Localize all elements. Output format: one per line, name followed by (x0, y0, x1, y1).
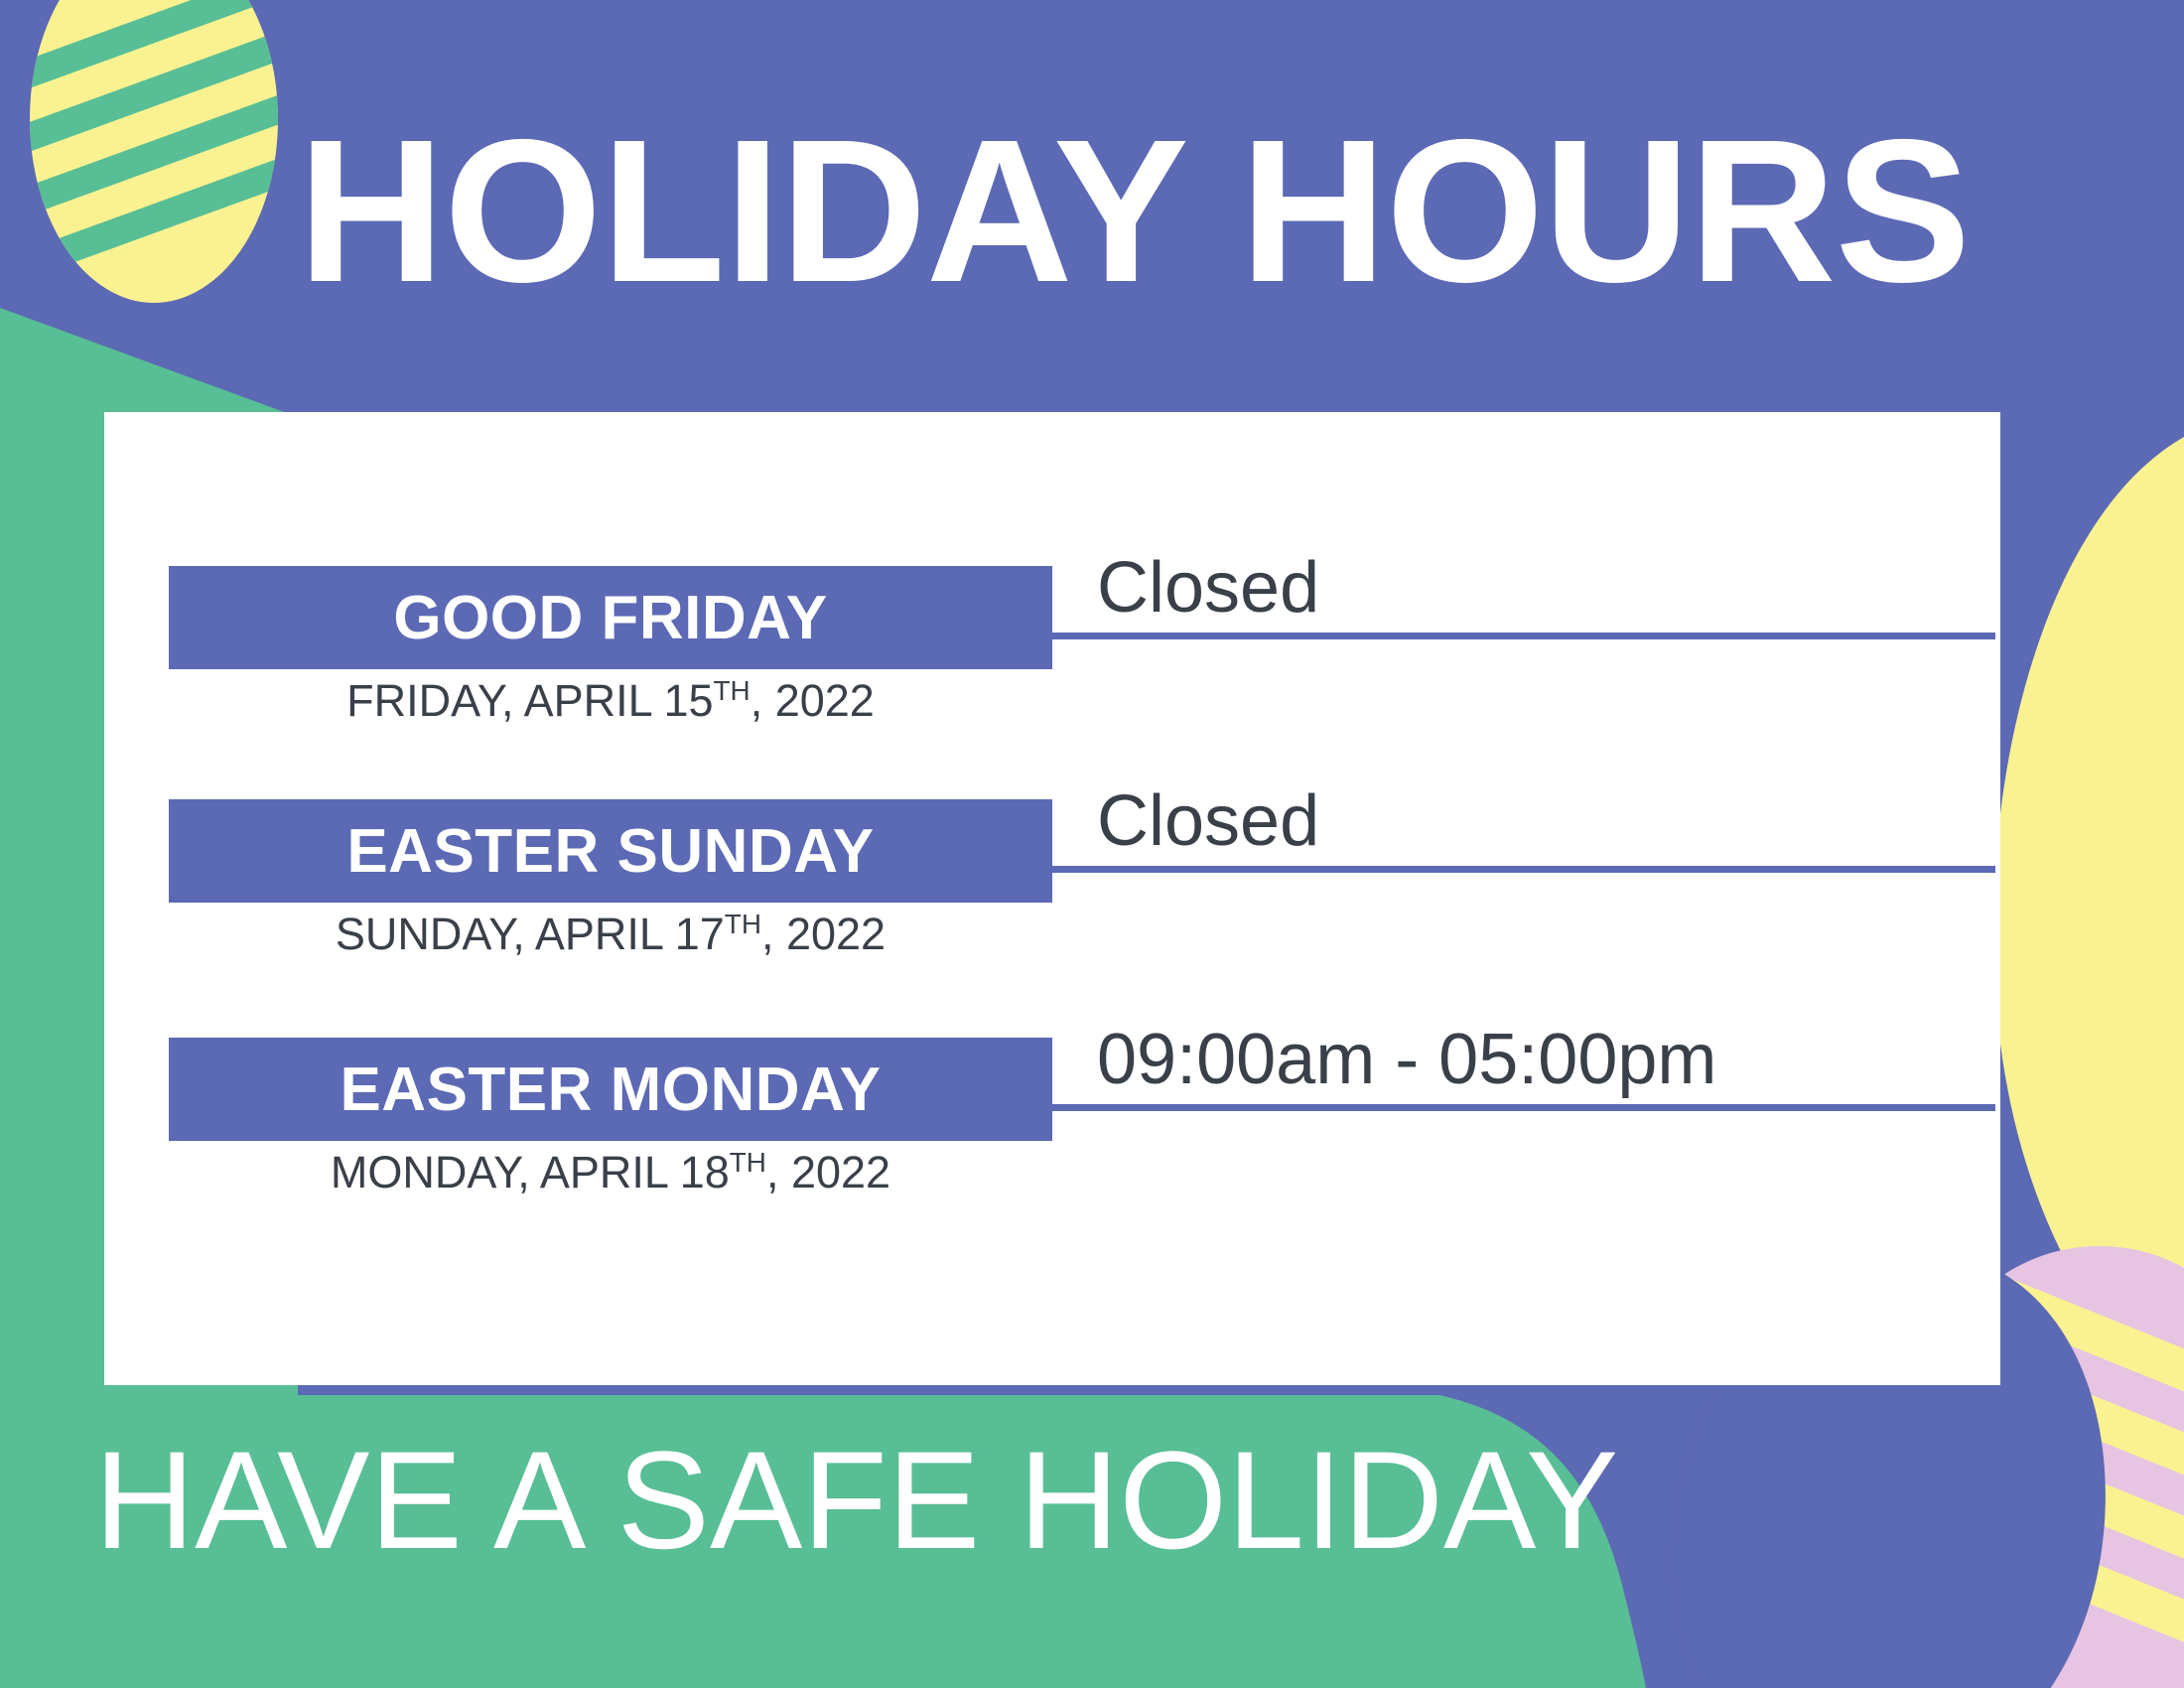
holiday-name-label: EASTER MONDAY (340, 1055, 881, 1125)
holiday-date-suffix: , 2022 (761, 909, 886, 959)
hours-value-group: Closed (1052, 546, 2040, 639)
holiday-name-band: EASTER MONDAY (169, 1038, 1052, 1141)
hours-underline (1052, 866, 1995, 873)
hours-value-group: Closed (1052, 779, 2040, 873)
hours-underline (1052, 1104, 1995, 1111)
holiday-date-suffix: , 2022 (766, 1147, 890, 1197)
holiday-date-ordinal: TH (730, 1147, 766, 1178)
holiday-name-label: EASTER SUNDAY (346, 816, 874, 887)
holiday-date: MONDAY, APRIL 18TH, 2022 (169, 1147, 1052, 1198)
hours-value-group: 09:00am - 05:00pm (1052, 1018, 2040, 1111)
holiday-date: FRIDAY, APRIL 15TH, 2022 (169, 675, 1052, 727)
holiday-date-prefix: FRIDAY, APRIL 15 (346, 675, 713, 726)
hours-underline (1052, 633, 1995, 639)
holiday-name-label: GOOD FRIDAY (393, 583, 827, 653)
page-title: HOLIDAY HOURS (298, 109, 1985, 313)
holiday-date-ordinal: TH (725, 909, 761, 939)
hours-value: Closed (1052, 779, 2040, 864)
holiday-date-ordinal: TH (714, 675, 751, 706)
holiday-name-band: EASTER SUNDAY (169, 799, 1052, 903)
holiday-date-suffix: , 2022 (751, 675, 875, 726)
holiday-date: SUNDAY, APRIL 17TH, 2022 (169, 909, 1052, 960)
hours-value: 09:00am - 05:00pm (1052, 1018, 2040, 1102)
holiday-name-band: GOOD FRIDAY (169, 566, 1052, 669)
footer-message: HAVE A SAFE HOLIDAY (94, 1420, 1618, 1581)
hours-value: Closed (1052, 546, 2040, 631)
holiday-hours-poster: HOLIDAY HOURS GOOD FRIDAY FRIDAY, APRIL … (0, 0, 2184, 1688)
schedule-card: GOOD FRIDAY FRIDAY, APRIL 15TH, 2022 Clo… (104, 412, 2000, 1385)
holiday-date-prefix: MONDAY, APRIL 18 (331, 1147, 730, 1197)
holiday-date-prefix: SUNDAY, APRIL 17 (336, 909, 725, 959)
